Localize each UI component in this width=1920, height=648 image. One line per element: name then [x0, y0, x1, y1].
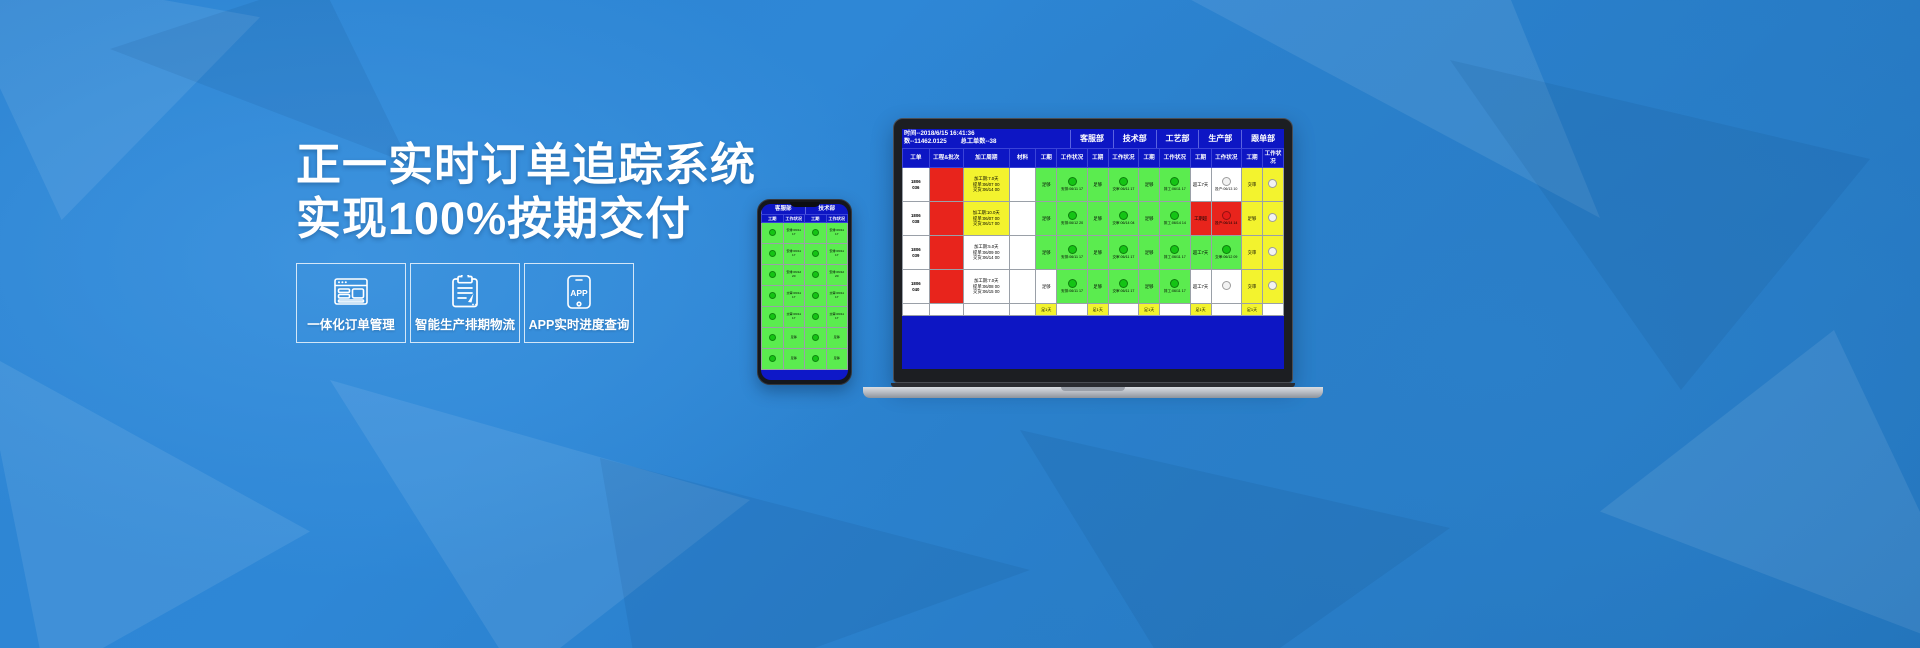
status-dot [769, 313, 776, 320]
status-dot [1068, 177, 1077, 186]
status-dot [1222, 245, 1231, 254]
dashboard-total-orders: 总工单数--38 [961, 138, 997, 146]
dept-production: 生产部 [1198, 130, 1241, 148]
phone-col-3: 工作状况 [826, 215, 848, 223]
mobile-app-icon: APP [567, 273, 591, 310]
cell-duration: 足够 [1036, 236, 1057, 270]
status-text: 安排:06/11 17 [1058, 289, 1085, 294]
cell-status: 交审:06/11 17 [1108, 168, 1138, 202]
cell-duration: 足够 [1139, 236, 1160, 270]
cell-status: 安排:06/11 17 [1057, 270, 1087, 304]
phone-cell-duration [762, 244, 784, 265]
table-row[interactable]: 1806039加工期:5.0天提单:06/09 00交货:06/14 00足够安… [903, 236, 1284, 270]
cell-duration: 足够 [1036, 270, 1057, 304]
cell-batch [929, 168, 963, 202]
phone-cell-duration [805, 265, 827, 286]
cell-status: 安排:06/11 17 [1057, 168, 1087, 202]
status-dot [812, 250, 819, 257]
cell-status: 排工:06/11 17 [1160, 236, 1190, 270]
cell-cycle: 加工期:5.0天提单:06/09 00交货:06/14 00 [963, 236, 1009, 270]
cell-status [1262, 236, 1283, 270]
phone-cell-status: 安排:06/11 17 [783, 223, 805, 244]
list-item[interactable]: 交审:06/11 17交审:06/11 17 [762, 307, 848, 328]
dashboard-col-11: 工作状况 [1211, 149, 1241, 168]
dept-technology: 技术部 [1113, 130, 1156, 148]
cell-status: 交审:06/12 09 [1211, 236, 1241, 270]
cell-duration: 工期超 [1190, 202, 1211, 236]
phone-cell-status: 安排:06/11 17 [826, 244, 848, 265]
footer-cell: 足1天 [1242, 304, 1263, 316]
footer-cell [1160, 304, 1190, 316]
phone-cell-duration [805, 328, 827, 349]
cell-status: 投产:06/14 14 [1211, 202, 1241, 236]
feature-label: 智能生产排期物流 [415, 318, 515, 332]
cell-status: 安排:06/12 20 [1057, 202, 1087, 236]
phone-col-0: 工期 [762, 215, 784, 223]
status-dot [1068, 211, 1077, 220]
status-text: 安排:06/11 17 [1058, 255, 1085, 260]
cell-cycle: 加工期:10.0天提单:06/07 00交货:06/17 00 [963, 202, 1009, 236]
status-dot [1170, 279, 1179, 288]
status-dot [769, 250, 776, 257]
status-text: 投产:06/14 14 [1213, 221, 1240, 226]
feature-box-app-progress[interactable]: APP APP实时进度查询 [524, 263, 634, 343]
phone-cell-duration [805, 244, 827, 265]
status-dot [769, 355, 776, 362]
cell-order: 1806038 [903, 202, 930, 236]
cell-material [1009, 270, 1036, 304]
status-text: 交审:06/11 17 [1110, 255, 1137, 260]
cell-duration: 足够 [1242, 202, 1263, 236]
status-dot [769, 334, 776, 341]
phone-cell-status: 足够 [783, 349, 805, 370]
footer-cell [1009, 304, 1036, 316]
status-dot [769, 271, 776, 278]
footer-cell: 足1天 [1087, 304, 1108, 316]
status-text: 排工:06/11 17 [1161, 255, 1188, 260]
cell-status [1262, 270, 1283, 304]
dept-process: 工艺部 [1156, 130, 1199, 148]
dashboard-col-4: 工期 [1036, 149, 1057, 168]
feature-box-order-management[interactable]: 一体化订单管理 [296, 263, 406, 343]
dashboard-col-10: 工期 [1190, 149, 1211, 168]
phone-cell-duration [762, 307, 784, 328]
phone-cell-duration [762, 265, 784, 286]
cell-status: 交审:06/11 17 [1108, 236, 1138, 270]
cell-duration: 交审 [1242, 168, 1263, 202]
list-item[interactable]: 安排:06/11 17安排:06/11 17 [762, 244, 848, 265]
status-dot [812, 229, 819, 236]
dashboard-col-1: 工程&批次 [929, 149, 963, 168]
dashboard-count-left: 数--11462.0125 [904, 138, 947, 146]
cell-duration: 足够 [1036, 202, 1057, 236]
bg-polygon [1450, 60, 1870, 390]
status-dot [1222, 177, 1231, 186]
phone-cell-status: 交审:06/11 17 [826, 307, 848, 328]
phone-cell-duration [762, 223, 784, 244]
bg-polygon [1020, 430, 1450, 648]
footer-cell: 足1天 [1190, 304, 1211, 316]
cell-order: 1806036 [903, 168, 930, 202]
cell-batch [929, 270, 963, 304]
dashboard-body: 1806036加工期:7.0天提单:06/07 00交货:06/14 00足够安… [903, 168, 1284, 316]
dashboard-col-9: 工作状况 [1160, 149, 1190, 168]
laptop-mockup: 时间--2018/6/15 16:41:36 数--11462.0125 总工单… [863, 118, 1323, 398]
cell-status: 交审:06/14 04 [1108, 202, 1138, 236]
footer-cell [929, 304, 963, 316]
app-icon-text: APP [570, 288, 588, 298]
status-dot [812, 271, 819, 278]
cell-status [1262, 202, 1283, 236]
dashboard-col-3: 材料 [1009, 149, 1036, 168]
phone-cell-status: 足够 [783, 328, 805, 349]
clipboard-schedule-icon [451, 273, 479, 310]
status-dot [1268, 213, 1277, 222]
dashboard-header-row: 工单工程&批次加工周期材料工期工作状况工期工作状况工期工作状况工期工作状况工期工… [903, 149, 1284, 168]
dept-merchandising: 跟单部 [1241, 130, 1284, 148]
phone-cell-status: 足够 [826, 349, 848, 370]
phone-cell-status: 安排:06/12 20 [826, 265, 848, 286]
phone-cell-status: 安排:06/11 17 [826, 223, 848, 244]
table-row[interactable]: 1806038加工期:10.0天提单:06/07 00交货:06/17 00足够… [903, 202, 1284, 236]
bg-polygon [0, 350, 310, 648]
phone-cell-status: 足够 [826, 328, 848, 349]
feature-label: APP实时进度查询 [529, 318, 630, 332]
footer-cell [1211, 304, 1241, 316]
cell-duration: 超工7天 [1190, 168, 1211, 202]
phone-col-2: 工期 [805, 215, 827, 223]
footer-cell [903, 304, 930, 316]
cell-status [1262, 168, 1283, 202]
cell-duration: 足够 [1139, 270, 1160, 304]
cell-material [1009, 202, 1036, 236]
phone-data-table: 工期 工作状况 工期 工作状况 安排:06/11 17安排:06/11 17安排… [761, 214, 848, 370]
bg-polygon [1600, 330, 1920, 648]
cell-batch [929, 202, 963, 236]
laptop-base [863, 387, 1323, 398]
status-dot [1222, 281, 1231, 290]
dashboard-col-8: 工期 [1139, 149, 1160, 168]
footer-cell [1057, 304, 1087, 316]
status-dot [1268, 281, 1277, 290]
cell-duration: 足够 [1036, 168, 1057, 202]
cell-status: 交审:06/11 17 [1108, 270, 1138, 304]
phone-table-body: 安排:06/11 17安排:06/11 17安排:06/11 17安排:06/1… [762, 223, 848, 370]
status-dot [769, 229, 776, 236]
phone-col-1: 工作状况 [783, 215, 805, 223]
status-text: 排工:06/11 17 [1161, 289, 1188, 294]
feature-box-list: 一体化订单管理 智能生产排期物流 [296, 263, 634, 343]
phone-cell-duration [762, 286, 784, 307]
cell-order: 1806040 [903, 270, 930, 304]
dashboard-col-12: 工期 [1242, 149, 1263, 168]
cell-duration: 足够 [1087, 168, 1108, 202]
dashboard-col-2: 加工周期 [963, 149, 1009, 168]
cell-duration: 足够 [1087, 202, 1108, 236]
footer-cell [963, 304, 1009, 316]
table-row[interactable]: 1806036加工期:7.0天提单:06/07 00交货:06/14 00足够安… [903, 168, 1284, 202]
status-text: 交审:06/11 17 [1110, 187, 1137, 192]
cell-order: 1806039 [903, 236, 930, 270]
list-item[interactable]: 安排:06/12 20安排:06/12 20 [762, 265, 848, 286]
footer-cell: 足1天 [1036, 304, 1057, 316]
phone-notch [790, 202, 820, 207]
phone-mockup: 客服部 技术部 工期 工作状况 工期 工作状况 安排:06/11 17安排:06… [757, 199, 852, 385]
dashboard-col-13: 工作状况 [1262, 149, 1283, 168]
list-item[interactable]: 足够足够 [762, 349, 848, 370]
phone-cell-status: 安排:06/12 20 [783, 265, 805, 286]
cell-material [1009, 236, 1036, 270]
status-text: 交审:06/11 17 [1110, 289, 1137, 294]
phone-cell-duration [805, 223, 827, 244]
phone-cell-duration [805, 349, 827, 370]
headline-line-1: 正一实时订单追踪系统 [296, 139, 756, 190]
status-dot [1119, 211, 1128, 220]
phone-cell-status: 安排:06/11 17 [783, 244, 805, 265]
status-dot [1119, 279, 1128, 288]
cell-status: 排工:06/11 17 [1160, 270, 1190, 304]
status-dot [1268, 247, 1277, 256]
status-dot [1170, 211, 1179, 220]
phone-cell-duration [805, 307, 827, 328]
status-dot [812, 355, 819, 362]
dashboard-col-5: 工作状况 [1057, 149, 1087, 168]
cell-duration: 交审 [1242, 236, 1263, 270]
status-text: 交审:06/14 04 [1110, 221, 1137, 226]
dashboard: 时间--2018/6/15 16:41:36 数--11462.0125 总工单… [902, 129, 1284, 369]
phone-cell-duration [762, 328, 784, 349]
cell-duration: 足够 [1139, 168, 1160, 202]
status-dot [1170, 245, 1179, 254]
feature-box-production-schedule[interactable]: 智能生产排期物流 [410, 263, 520, 343]
dashboard-departments: 客服部 技术部 工艺部 生产部 跟单部 [1070, 130, 1284, 148]
dashboard-header: 时间--2018/6/15 16:41:36 数--11462.0125 总工单… [902, 129, 1284, 148]
promo-banner: 正一实时订单追踪系统 实现100%按期交付 一体化订单管理 [0, 0, 1920, 648]
dashboard-table: 工单工程&批次加工周期材料工期工作状况工期工作状况工期工作状况工期工作状况工期工… [902, 148, 1284, 316]
cell-duration: 超工7天 [1190, 270, 1211, 304]
phone-cell-status: 交审:06/11 17 [783, 307, 805, 328]
status-dot [812, 334, 819, 341]
cell-status [1211, 270, 1241, 304]
phone-cell-status: 交审:06/11 17 [783, 286, 805, 307]
cell-duration: 超工7天 [1190, 236, 1211, 270]
cell-cycle: 加工期:7.0天提单:06/08 00交货:06/15 00 [963, 270, 1009, 304]
bg-polygon [600, 430, 1030, 648]
cell-duration: 足够 [1087, 236, 1108, 270]
status-text: 安排:06/12 20 [1058, 221, 1085, 226]
table-row[interactable]: 1806040加工期:7.0天提单:06/08 00交货:06/15 00足够安… [903, 270, 1284, 304]
phone-cell-duration [805, 286, 827, 307]
status-text: 交审:06/12 09 [1213, 255, 1240, 260]
status-text: 排工:06/11 17 [1161, 187, 1188, 192]
status-text: 投产:06/13 10 [1213, 187, 1240, 192]
cell-duration: 足够 [1139, 202, 1160, 236]
list-item[interactable]: 安排:06/11 17安排:06/11 17 [762, 223, 848, 244]
footer-cell [1262, 304, 1283, 316]
phone-screen: 客服部 技术部 工期 工作状况 工期 工作状况 安排:06/11 17安排:06… [761, 204, 848, 380]
status-dot [812, 313, 819, 320]
cell-status: 投产:06/13 10 [1211, 168, 1241, 202]
list-item[interactable]: 足够足够 [762, 328, 848, 349]
phone-cell-duration [762, 349, 784, 370]
status-text: 排工:06/14 14 [1161, 221, 1188, 226]
status-text: 安排:06/11 17 [1058, 187, 1085, 192]
order-list-icon [334, 273, 368, 310]
status-dot [769, 292, 776, 299]
dashboard-col-0: 工单 [903, 149, 930, 168]
footer-cell: 足1天 [1139, 304, 1160, 316]
dashboard-col-6: 工期 [1087, 149, 1108, 168]
status-dot [1119, 177, 1128, 186]
dept-customer-service: 客服部 [1070, 130, 1113, 148]
status-dot [1268, 179, 1277, 188]
status-dot [812, 292, 819, 299]
dashboard-meta: 时间--2018/6/15 16:41:36 数--11462.0125 总工单… [902, 130, 1070, 148]
cell-status: 排工:06/14 14 [1160, 202, 1190, 236]
cell-batch [929, 236, 963, 270]
cell-status: 排工:06/11 17 [1160, 168, 1190, 202]
footer-cell [1108, 304, 1138, 316]
table-footer-row: 足1天足1天足1天足1天足1天 [903, 304, 1284, 316]
list-item[interactable]: 交审:06/11 17交审:06/11 17 [762, 286, 848, 307]
feature-label: 一体化订单管理 [307, 318, 395, 332]
status-dot [1119, 245, 1128, 254]
laptop-screen: 时间--2018/6/15 16:41:36 数--11462.0125 总工单… [902, 129, 1284, 369]
cell-duration: 交审 [1242, 270, 1263, 304]
status-dot [1222, 211, 1231, 220]
status-dot [1068, 245, 1077, 254]
laptop-lid: 时间--2018/6/15 16:41:36 数--11462.0125 总工单… [893, 118, 1293, 383]
cell-cycle: 加工期:7.0天提单:06/07 00交货:06/14 00 [963, 168, 1009, 202]
cell-material [1009, 168, 1036, 202]
phone-cell-status: 交审:06/11 17 [826, 286, 848, 307]
cell-duration: 足够 [1087, 270, 1108, 304]
status-dot [1068, 279, 1077, 288]
dashboard-col-7: 工作状况 [1108, 149, 1138, 168]
status-dot [1170, 177, 1179, 186]
cell-status: 安排:06/11 17 [1057, 236, 1087, 270]
phone-table-header-row: 工期 工作状况 工期 工作状况 [762, 215, 848, 223]
